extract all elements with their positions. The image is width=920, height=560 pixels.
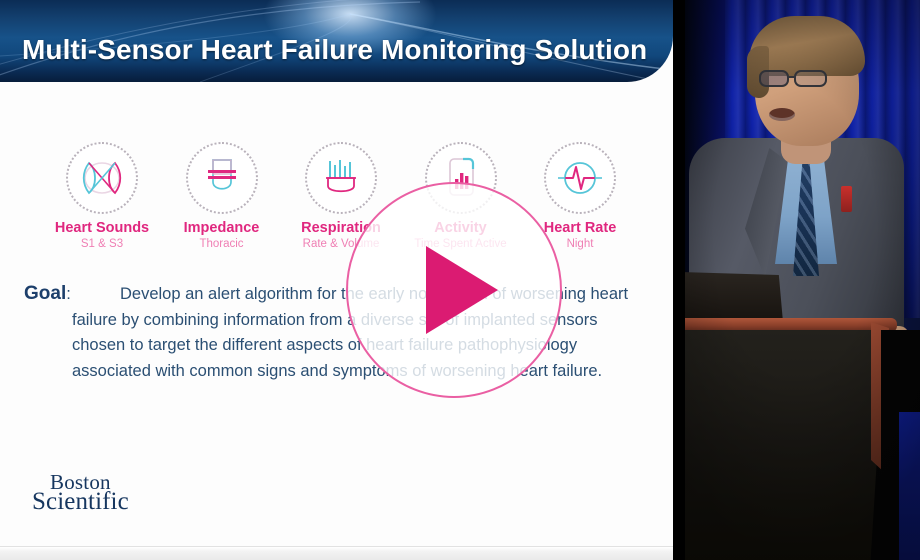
slide-title: Multi-Sensor Heart Failure Monitoring So… bbox=[22, 34, 647, 66]
video-player-screenshot: Multi-Sensor Heart Failure Monitoring So… bbox=[0, 0, 920, 560]
pane-divider bbox=[673, 0, 685, 560]
play-button[interactable] bbox=[346, 182, 562, 398]
heart-rate-icon bbox=[544, 142, 616, 214]
heart-sounds-icon bbox=[66, 142, 138, 214]
slide-title-banner: Multi-Sensor Heart Failure Monitoring So… bbox=[0, 0, 673, 82]
sensor-name: Heart Sounds bbox=[55, 221, 149, 236]
sensor-sub: Night bbox=[567, 238, 594, 250]
sensor-sub: S1 & S3 bbox=[81, 238, 123, 250]
video-vignette bbox=[685, 0, 920, 560]
presentation-slide: Multi-Sensor Heart Failure Monitoring So… bbox=[0, 0, 673, 560]
goal-separator: : bbox=[66, 285, 71, 303]
slide-bottom-strip bbox=[0, 546, 673, 560]
goal-label: Goal bbox=[24, 283, 66, 304]
sensor-name: Heart Rate bbox=[544, 221, 617, 236]
sensor-name: Impedance bbox=[184, 221, 260, 236]
play-triangle-icon bbox=[426, 246, 498, 334]
sensor-heart-sounds: Heart Sounds S1 & S3 bbox=[46, 142, 158, 260]
sensor-sub: Thoracic bbox=[199, 238, 243, 250]
respiration-icon bbox=[305, 142, 377, 214]
sensor-impedance: Impedance Thoracic bbox=[166, 142, 278, 260]
impedance-icon bbox=[186, 142, 258, 214]
logo-line-2: Scientific bbox=[32, 489, 129, 514]
boston-scientific-logo: Boston Scientific bbox=[32, 472, 129, 514]
speaker-video-pane bbox=[685, 0, 920, 560]
